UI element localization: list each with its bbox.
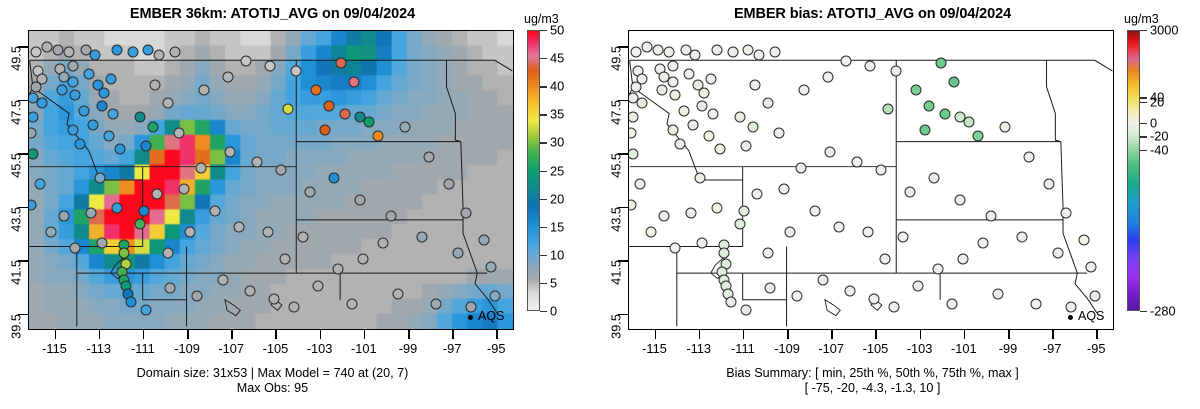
aqs-bias-marker[interactable] — [738, 205, 749, 216]
y-axis-tick-label: 43.5 — [9, 207, 24, 232]
aqs-site-marker[interactable] — [443, 178, 454, 189]
aqs-site-marker[interactable] — [328, 173, 339, 184]
aqs-site-marker[interactable] — [134, 111, 145, 122]
aqs-site-marker[interactable] — [280, 253, 291, 264]
aqs-site-marker[interactable] — [149, 79, 160, 90]
x-axis-tick — [275, 330, 277, 339]
aqs-site-marker[interactable] — [304, 186, 315, 197]
aqs-site-marker[interactable] — [68, 76, 79, 87]
x-axis-tick-label: -115 — [42, 341, 67, 356]
colorbar-tick — [540, 255, 547, 256]
aqs-bias-marker[interactable] — [635, 178, 646, 189]
x-axis-tick-label: -101 — [951, 341, 977, 356]
aqs-site-marker[interactable] — [112, 44, 123, 55]
colorbar-tick — [540, 86, 547, 87]
aqs-bias-marker[interactable] — [791, 291, 802, 302]
page-title-bias: EMBER bias: ATOTIJ_AVG on 09/04/2024 — [600, 6, 1145, 22]
x-axis-tick-label: -97 — [1043, 341, 1062, 356]
aqs-bias-marker[interactable] — [992, 288, 1003, 299]
y-axis-tick-label: 49.5 — [609, 46, 624, 71]
aqs-bias-marker[interactable] — [688, 119, 699, 130]
x-axis-tick — [1052, 330, 1054, 339]
panel-model-bias: EMBER bias: ATOTIJ_AVG on 09/04/2024 -11… — [600, 0, 1200, 409]
aqs-bias-marker[interactable] — [957, 253, 968, 264]
aqs-bias-marker[interactable] — [1061, 208, 1072, 219]
aqs-bias-marker[interactable] — [763, 98, 774, 109]
aqs-bias-marker[interactable] — [913, 280, 924, 291]
aqs-site-marker[interactable] — [269, 293, 280, 304]
y-axis-tick-label: 47.5 — [9, 100, 24, 125]
aqs-site-marker[interactable] — [134, 218, 145, 229]
aqs-bias-marker[interactable] — [818, 275, 829, 286]
x-axis-tick — [55, 330, 57, 339]
aqs-bias-marker[interactable] — [948, 76, 959, 87]
aqs-site-marker[interactable] — [289, 301, 300, 312]
colorbar-tick — [540, 142, 547, 143]
aqs-site-marker[interactable] — [99, 87, 110, 98]
aqs-bias-marker[interactable] — [1017, 232, 1028, 243]
aqs-site-marker[interactable] — [90, 50, 101, 61]
colorbar-tick-label: 45 — [550, 51, 564, 66]
aqs-site-marker[interactable] — [185, 226, 196, 237]
aqs-site-marker[interactable] — [251, 157, 262, 168]
colorbar-tick-label: -40 — [1150, 142, 1169, 157]
aqs-site-marker[interactable] — [57, 84, 68, 95]
aqs-site-marker[interactable] — [490, 291, 501, 302]
aqs-bias-marker[interactable] — [741, 304, 752, 315]
aqs-site-marker[interactable] — [313, 280, 324, 291]
x-axis-tick-label: -109 — [174, 341, 200, 356]
colorbar-tick-label: 40 — [550, 79, 564, 94]
colorbar-tick — [1140, 123, 1147, 124]
aqs-site-marker[interactable] — [465, 301, 476, 312]
aqs-site-marker[interactable] — [392, 288, 403, 299]
aqs-bias-marker[interactable] — [725, 296, 736, 307]
aqs-bias-marker[interactable] — [712, 202, 723, 213]
aqs-site-marker[interactable] — [209, 205, 220, 216]
aqs-bias-marker[interactable] — [679, 106, 690, 117]
aqs-site-marker[interactable] — [138, 205, 149, 216]
aqs-bias-marker[interactable] — [630, 47, 641, 58]
aqs-bias-marker[interactable] — [911, 84, 922, 95]
colorbar-tick-label: -280 — [1150, 304, 1176, 319]
y-axis-tick-label: 47.5 — [609, 100, 624, 125]
aqs-site-marker[interactable] — [46, 226, 57, 237]
x-axis-tick-label: -113 — [86, 341, 111, 356]
aqs-site-marker[interactable] — [485, 261, 496, 272]
aqs-site-marker[interactable] — [74, 138, 85, 149]
aqs-bias-marker[interactable] — [699, 87, 710, 98]
x-axis-tick — [1096, 330, 1098, 339]
aqs-site-marker[interactable] — [191, 291, 202, 302]
x-axis-tick — [99, 330, 101, 339]
aqs-site-marker[interactable] — [63, 47, 74, 58]
caption-max-obs: Max Obs: 95 — [0, 381, 545, 396]
colorbar-tick-label: 15 — [550, 219, 564, 234]
aqs-bias-marker[interactable] — [628, 200, 637, 211]
aqs-site-marker[interactable] — [452, 248, 463, 259]
aqs-bias-marker[interactable] — [904, 186, 915, 197]
aqs-site-marker[interactable] — [461, 208, 472, 219]
aqs-bias-marker[interactable] — [765, 283, 776, 294]
aqs-site-markers[interactable] — [29, 31, 513, 329]
aqs-site-marker[interactable] — [264, 60, 275, 71]
map-plot-area-bias — [628, 30, 1114, 330]
aqs-bias-marker[interactable] — [785, 226, 796, 237]
aqs-bias-marker[interactable] — [809, 205, 820, 216]
aqs-bias-marker[interactable] — [685, 208, 696, 219]
x-axis-tick-label: -95 — [487, 341, 506, 356]
aqs-site-marker[interactable] — [114, 143, 125, 154]
aqs-bias-marker[interactable] — [769, 47, 780, 58]
aqs-site-marker[interactable] — [41, 42, 52, 53]
aqs-bias-marker[interactable] — [796, 162, 807, 173]
aqs-site-marker[interactable] — [399, 122, 410, 133]
aqs-bias-marker[interactable] — [1079, 234, 1090, 245]
aqs-site-marker[interactable] — [30, 47, 41, 58]
aqs-bias-marker[interactable] — [630, 82, 641, 93]
x-axis-tick-label: -115 — [642, 341, 667, 356]
y-axis-tick-label: 39.5 — [609, 314, 624, 339]
x-axis-tick-label: -95 — [1087, 341, 1106, 356]
aqs-site-marker[interactable] — [165, 283, 176, 294]
colorbar-tick — [1140, 30, 1147, 31]
x-axis-tick — [743, 330, 745, 339]
aqs-site-marker[interactable] — [127, 47, 138, 58]
aqs-bias-marker[interactable] — [727, 47, 738, 58]
colorbar-tick-label: 5 — [550, 275, 557, 290]
x-axis-tick — [964, 330, 966, 339]
colorbar-tick — [540, 283, 547, 284]
colorbar-tick-label: -20 — [1150, 129, 1169, 144]
aqs-site-marker[interactable] — [70, 90, 81, 101]
aqs-site-marker[interactable] — [178, 184, 189, 195]
aqs-site-marker[interactable] — [112, 202, 123, 213]
colorbar-tick-label: 50 — [550, 23, 564, 38]
x-axis-tick — [496, 330, 498, 339]
aqs-site-marker[interactable] — [324, 101, 335, 112]
x-axis-tick-label: -105 — [263, 341, 289, 356]
aqs-site-marker[interactable] — [320, 125, 331, 136]
aqs-site-marker[interactable] — [225, 146, 236, 157]
aqs-bias-marker[interactable] — [741, 141, 752, 152]
y-axis-tick-label: 41.5 — [609, 260, 624, 285]
aqs-bias-marker[interactable] — [778, 184, 789, 195]
colorbar-tick — [540, 30, 547, 31]
x-axis-tick — [787, 330, 789, 339]
aqs-bias-marker[interactable] — [674, 138, 685, 149]
colorbar-tick-label: 10 — [550, 247, 564, 262]
aqs-site-marker[interactable] — [262, 226, 273, 237]
x-axis-tick — [143, 330, 145, 339]
aqs-bias-marker[interactable] — [1065, 301, 1076, 312]
aqs-bias-marker[interactable] — [1030, 299, 1041, 310]
x-axis-tick — [408, 330, 410, 339]
aqs-site-marker[interactable] — [291, 66, 302, 77]
aqs-site-marker[interactable] — [430, 299, 441, 310]
aqs-bias-marker[interactable] — [641, 42, 652, 53]
aqs-site-marker[interactable] — [141, 141, 152, 152]
aqs-bias-marker[interactable] — [1090, 291, 1101, 302]
aqs-bias-marker[interactable] — [840, 55, 851, 66]
y-axis-tick-label: 45.5 — [9, 153, 24, 178]
x-axis-tick-label: -103 — [907, 341, 933, 356]
aqs-site-marker[interactable] — [96, 237, 107, 248]
aqs-bias-marker[interactable] — [1023, 151, 1034, 162]
aqs-bias-marker[interactable] — [705, 74, 716, 85]
aqs-site-marker[interactable] — [222, 71, 233, 82]
aqs-bias-marker[interactable] — [696, 101, 707, 112]
aqs-bias-marker[interactable] — [875, 165, 886, 176]
x-axis-tick — [187, 330, 189, 339]
aqs-site-marker[interactable] — [105, 74, 116, 85]
aqs-bias-marker[interactable] — [935, 58, 946, 69]
colorbar-tick — [540, 227, 547, 228]
aqs-bias-marker[interactable] — [891, 66, 902, 77]
colorbar-tick-label: 0 — [550, 304, 557, 319]
aqs-site-marker[interactable] — [83, 68, 94, 79]
colorbar-tick-label: 3000 — [1150, 23, 1178, 38]
aqs-bias-marker[interactable] — [714, 143, 725, 154]
aqs-site-marker[interactable] — [218, 275, 229, 286]
aqs-bias-marker[interactable] — [977, 237, 988, 248]
aqs-site-marker[interactable] — [417, 232, 428, 243]
colorbar-tick — [1140, 150, 1147, 151]
colorbar-tick — [1140, 102, 1147, 103]
aqs-bias-marker[interactable] — [882, 103, 893, 114]
aqs-bias-marker[interactable] — [851, 157, 862, 168]
aqs-bias-marker[interactable] — [864, 60, 875, 71]
aqs-bias-marker[interactable] — [924, 101, 935, 112]
aqs-site-marker[interactable] — [68, 125, 79, 136]
aqs-bias-marker[interactable] — [694, 173, 705, 184]
aqs-bias-marker[interactable] — [747, 122, 758, 133]
aqs-bias-marker[interactable] — [657, 84, 668, 95]
aqs-site-marker[interactable] — [339, 109, 350, 120]
x-axis-tick — [452, 330, 454, 339]
aqs-site-marker[interactable] — [107, 109, 118, 120]
aqs-site-marker[interactable] — [154, 50, 165, 61]
aqs-bias-marker[interactable] — [628, 111, 639, 122]
aqs-bias-marker[interactable] — [637, 98, 648, 109]
aqs-site-marker[interactable] — [37, 98, 48, 109]
panel-model-concentration: EMBER 36km: ATOTIJ_AVG on 09/04/2024 -11… — [0, 0, 600, 409]
aqs-site-marker[interactable] — [94, 173, 105, 184]
aqs-site-marker[interactable] — [346, 299, 357, 310]
colorbar-tick — [1140, 136, 1147, 137]
colorbar-tick-label: 20 — [550, 191, 564, 206]
aqs-bias-marker[interactable] — [668, 60, 679, 71]
aqs-bias-marker[interactable] — [825, 146, 836, 157]
aqs-bias-marker[interactable] — [798, 84, 809, 95]
aqs-bias-marker[interactable] — [897, 232, 908, 243]
aqs-bias-marker[interactable] — [1085, 261, 1096, 272]
aqs-bias-marker[interactable] — [1043, 178, 1054, 189]
aqs-bias-marker[interactable] — [1052, 248, 1063, 259]
aqs-site-marker[interactable] — [196, 162, 207, 173]
y-axis-tick-label: 45.5 — [609, 153, 624, 178]
aqs-bias-marker[interactable] — [749, 79, 760, 90]
aqs-bias-marker[interactable] — [707, 109, 718, 120]
aqs-site-marker[interactable] — [103, 130, 114, 141]
colorbar-tick — [1140, 311, 1147, 312]
aqs-bias-marker[interactable] — [862, 226, 873, 237]
aqs-bias-marker[interactable] — [743, 44, 754, 55]
aqs-site-marker[interactable] — [163, 248, 174, 259]
aqs-site-marker[interactable] — [244, 285, 255, 296]
aqs-site-marker[interactable] — [28, 149, 39, 160]
aqs-site-marker[interactable] — [141, 304, 152, 315]
aqs-bias-marker[interactable] — [844, 285, 855, 296]
x-axis-tick — [1008, 330, 1010, 339]
aqs-site-marker[interactable] — [35, 178, 46, 189]
aqs-bias-marker[interactable] — [933, 264, 944, 275]
aqs-site-marker[interactable] — [96, 101, 107, 112]
aqs-site-marker[interactable] — [28, 111, 39, 122]
aqs-bias-marker[interactable] — [822, 71, 833, 82]
colorbar-tick-label: 0 — [1150, 115, 1157, 130]
aqs-bias-marker[interactable] — [659, 210, 670, 221]
aqs-site-marker[interactable] — [85, 208, 96, 219]
aqs-bias-marker[interactable] — [999, 122, 1010, 133]
aqs-site-marker[interactable] — [28, 200, 37, 211]
aqs-bias-marker[interactable] — [703, 130, 714, 141]
aqs-site-marker[interactable] — [52, 44, 63, 55]
aqs-bias-marker[interactable] — [964, 117, 975, 128]
aqs-bias-marker[interactable] — [652, 44, 663, 55]
aqs-site-marker[interactable] — [311, 84, 322, 95]
aqs-bias-marker[interactable] — [670, 90, 681, 101]
aqs-bias-marker[interactable] — [763, 248, 774, 259]
aqs-site-marker[interactable] — [240, 55, 251, 66]
colorbar-tick-label: 30 — [550, 135, 564, 150]
aqs-bias-marker[interactable] — [712, 44, 723, 55]
aqs-site-marker[interactable] — [30, 82, 41, 93]
aqs-site-marker[interactable] — [163, 98, 174, 109]
colorbar-gradient — [527, 30, 540, 311]
aqs-bias-marker[interactable] — [696, 237, 707, 248]
aqs-bias-marker[interactable] — [663, 47, 674, 58]
aqs-bias-marker[interactable] — [734, 111, 745, 122]
aqs-bias-marker[interactable] — [752, 189, 763, 200]
aqs-bias-marker[interactable] — [734, 218, 745, 229]
colorbar-tick — [540, 58, 547, 59]
aqs-site-marker[interactable] — [88, 119, 99, 130]
aqs-bias-marker[interactable] — [719, 248, 730, 259]
aqs-site-marker[interactable] — [147, 122, 158, 133]
aqs-site-marker[interactable] — [282, 103, 293, 114]
aqs-site-marker[interactable] — [174, 127, 185, 138]
aqs-site-marker[interactable] — [59, 210, 70, 221]
map-plot-area-model — [28, 30, 514, 330]
caption-bias-header: Bias Summary: [ min, 25th %, 50th %, 75t… — [600, 366, 1145, 381]
aqs-site-marker[interactable] — [198, 84, 209, 95]
aqs-bias-marker[interactable] — [920, 125, 931, 136]
aqs-legend-dot-bias — [1068, 315, 1073, 320]
y-axis-tick-label: 41.5 — [9, 260, 24, 285]
aqs-bias-marker[interactable] — [939, 109, 950, 120]
aqs-bias-marker[interactable] — [670, 243, 681, 254]
aqs-site-marker[interactable] — [275, 165, 286, 176]
x-axis-tick-label: -97 — [443, 341, 462, 356]
colorbar-tick — [540, 311, 547, 312]
aqs-site-marker[interactable] — [479, 234, 490, 245]
aqs-bias-marker[interactable] — [986, 210, 997, 221]
aqs-bias-marker[interactable] — [646, 226, 657, 237]
aqs-bias-marker[interactable] — [683, 68, 694, 79]
aqs-site-marker[interactable] — [364, 117, 375, 128]
x-axis-tick-label: -105 — [863, 341, 889, 356]
aqs-site-marker[interactable] — [355, 194, 366, 205]
aqs-legend-dot — [468, 315, 473, 320]
aqs-bias-marker[interactable] — [774, 127, 785, 138]
aqs-bias-marker[interactable] — [668, 125, 679, 136]
aqs-site-marker[interactable] — [423, 151, 434, 162]
aqs-site-marker[interactable] — [119, 248, 130, 259]
aqs-site-marker[interactable] — [373, 130, 384, 141]
aqs-site-marker[interactable] — [68, 60, 79, 71]
aqs-bias-marker[interactable] — [690, 50, 701, 61]
x-axis-tick-label: -103 — [307, 341, 333, 356]
aqs-bias-marker[interactable] — [628, 127, 637, 138]
aqs-bias-marker[interactable] — [628, 149, 639, 160]
colorbar-tick-label: 40 — [1150, 90, 1164, 105]
aqs-bias-marker[interactable] — [668, 76, 679, 87]
aqs-bias-marker[interactable] — [754, 50, 765, 61]
colorbar-tick-label: 25 — [550, 163, 564, 178]
x-axis-tick-label: -113 — [686, 341, 711, 356]
x-axis-tick — [920, 330, 922, 339]
aqs-site-marker[interactable] — [125, 296, 136, 307]
aqs-site-marker[interactable] — [233, 221, 244, 232]
aqs-site-marker[interactable] — [335, 58, 346, 69]
aqs-site-marker[interactable] — [152, 189, 163, 200]
aqs-site-marker[interactable] — [169, 47, 180, 58]
aqs-bias-marker[interactable] — [973, 130, 984, 141]
aqs-bias-markers[interactable] — [629, 31, 1113, 329]
x-axis-tick-label: -101 — [351, 341, 377, 356]
aqs-site-marker[interactable] — [28, 127, 37, 138]
page-title: EMBER 36km: ATOTIJ_AVG on 09/04/2024 — [0, 6, 545, 22]
y-axis-tick-label: 43.5 — [609, 207, 624, 232]
aqs-bias-marker[interactable] — [946, 299, 957, 310]
aqs-bias-marker[interactable] — [869, 293, 880, 304]
aqs-legend-label: AQS — [478, 309, 504, 323]
aqs-bias-marker[interactable] — [955, 194, 966, 205]
x-axis-tick — [655, 330, 657, 339]
aqs-site-marker[interactable] — [79, 106, 90, 117]
aqs-site-marker[interactable] — [333, 264, 344, 275]
aqs-bias-marker[interactable] — [928, 173, 939, 184]
aqs-bias-marker[interactable] — [880, 253, 891, 264]
aqs-site-marker[interactable] — [348, 76, 359, 87]
y-axis-tick-label: 39.5 — [9, 314, 24, 339]
x-axis-tick — [364, 330, 366, 339]
aqs-site-marker[interactable] — [70, 243, 81, 254]
aqs-site-marker[interactable] — [377, 237, 388, 248]
aqs-site-marker[interactable] — [297, 232, 308, 243]
aqs-site-marker[interactable] — [143, 44, 154, 55]
aqs-bias-marker[interactable] — [833, 221, 844, 232]
aqs-site-marker[interactable] — [386, 210, 397, 221]
aqs-bias-marker[interactable] — [889, 301, 900, 312]
caption-bias-values: [ -75, -20, -4.3, -1.3, 10 ] — [600, 381, 1145, 396]
x-axis-tick-label: -111 — [131, 341, 155, 356]
x-axis-tick-label: -107 — [218, 341, 244, 356]
x-axis-tick — [831, 330, 833, 339]
aqs-site-marker[interactable] — [357, 253, 368, 264]
colorbar-tick — [1140, 97, 1147, 98]
